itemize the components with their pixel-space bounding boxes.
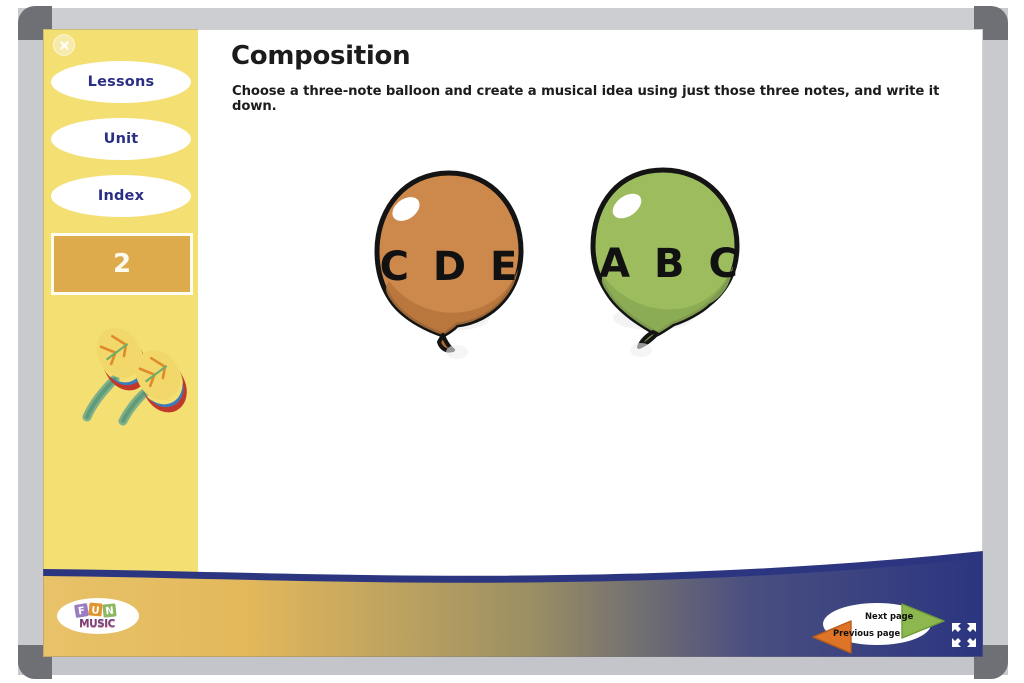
page-number-indicator[interactable]: 2 [51, 233, 193, 295]
previous-page-label[interactable]: Previous page [833, 628, 900, 638]
next-page-label[interactable]: Next page [865, 611, 913, 621]
page-number-value: 2 [113, 249, 131, 279]
sidebar-item-label: Index [98, 188, 144, 204]
close-button[interactable] [53, 34, 75, 56]
sidebar-item-label: Unit [104, 131, 139, 147]
svg-text:U: U [91, 605, 100, 617]
sidebar-item-lessons[interactable]: Lessons [51, 61, 191, 103]
frame-right-bar [983, 8, 1008, 675]
close-x-icon [59, 40, 70, 51]
sidebar-item-unit[interactable]: Unit [51, 118, 191, 160]
content-area: Composition Choose a three-note balloon … [198, 29, 983, 657]
page-title: Composition [231, 41, 410, 71]
frame-left-bar [18, 8, 43, 675]
balloon-abc[interactable]: A B C [581, 166, 761, 371]
sidebar: Lessons Unit Index 2 [43, 29, 198, 657]
next-page-arrow-icon[interactable] [900, 601, 946, 641]
balloon-cde[interactable]: C D E [361, 169, 541, 374]
page-navigation: Next page Previous page [811, 599, 946, 651]
instruction-text: Choose a three-note balloon and create a… [232, 84, 983, 114]
maracas-icon [63, 317, 193, 427]
balloon-shape [581, 166, 761, 371]
frame-top-bar [18, 8, 1008, 30]
whiteboard-frame: Lessons Unit Index 2 [0, 0, 1024, 683]
sidebar-item-label: Lessons [88, 74, 155, 90]
sidebar-item-index[interactable]: Index [51, 175, 191, 217]
svg-text:N: N [105, 606, 114, 618]
svg-text:MUSIC: MUSIC [79, 619, 115, 631]
fun-music-logo-icon: F U N MUSIC MUSIC [67, 601, 129, 631]
balloon-shape [361, 169, 541, 374]
fullscreen-expand-icon[interactable] [951, 622, 977, 648]
page-surface: Lessons Unit Index 2 [43, 29, 983, 657]
frame-bottom-bar [18, 655, 1008, 675]
fun-music-logo[interactable]: F U N MUSIC MUSIC [57, 598, 139, 634]
